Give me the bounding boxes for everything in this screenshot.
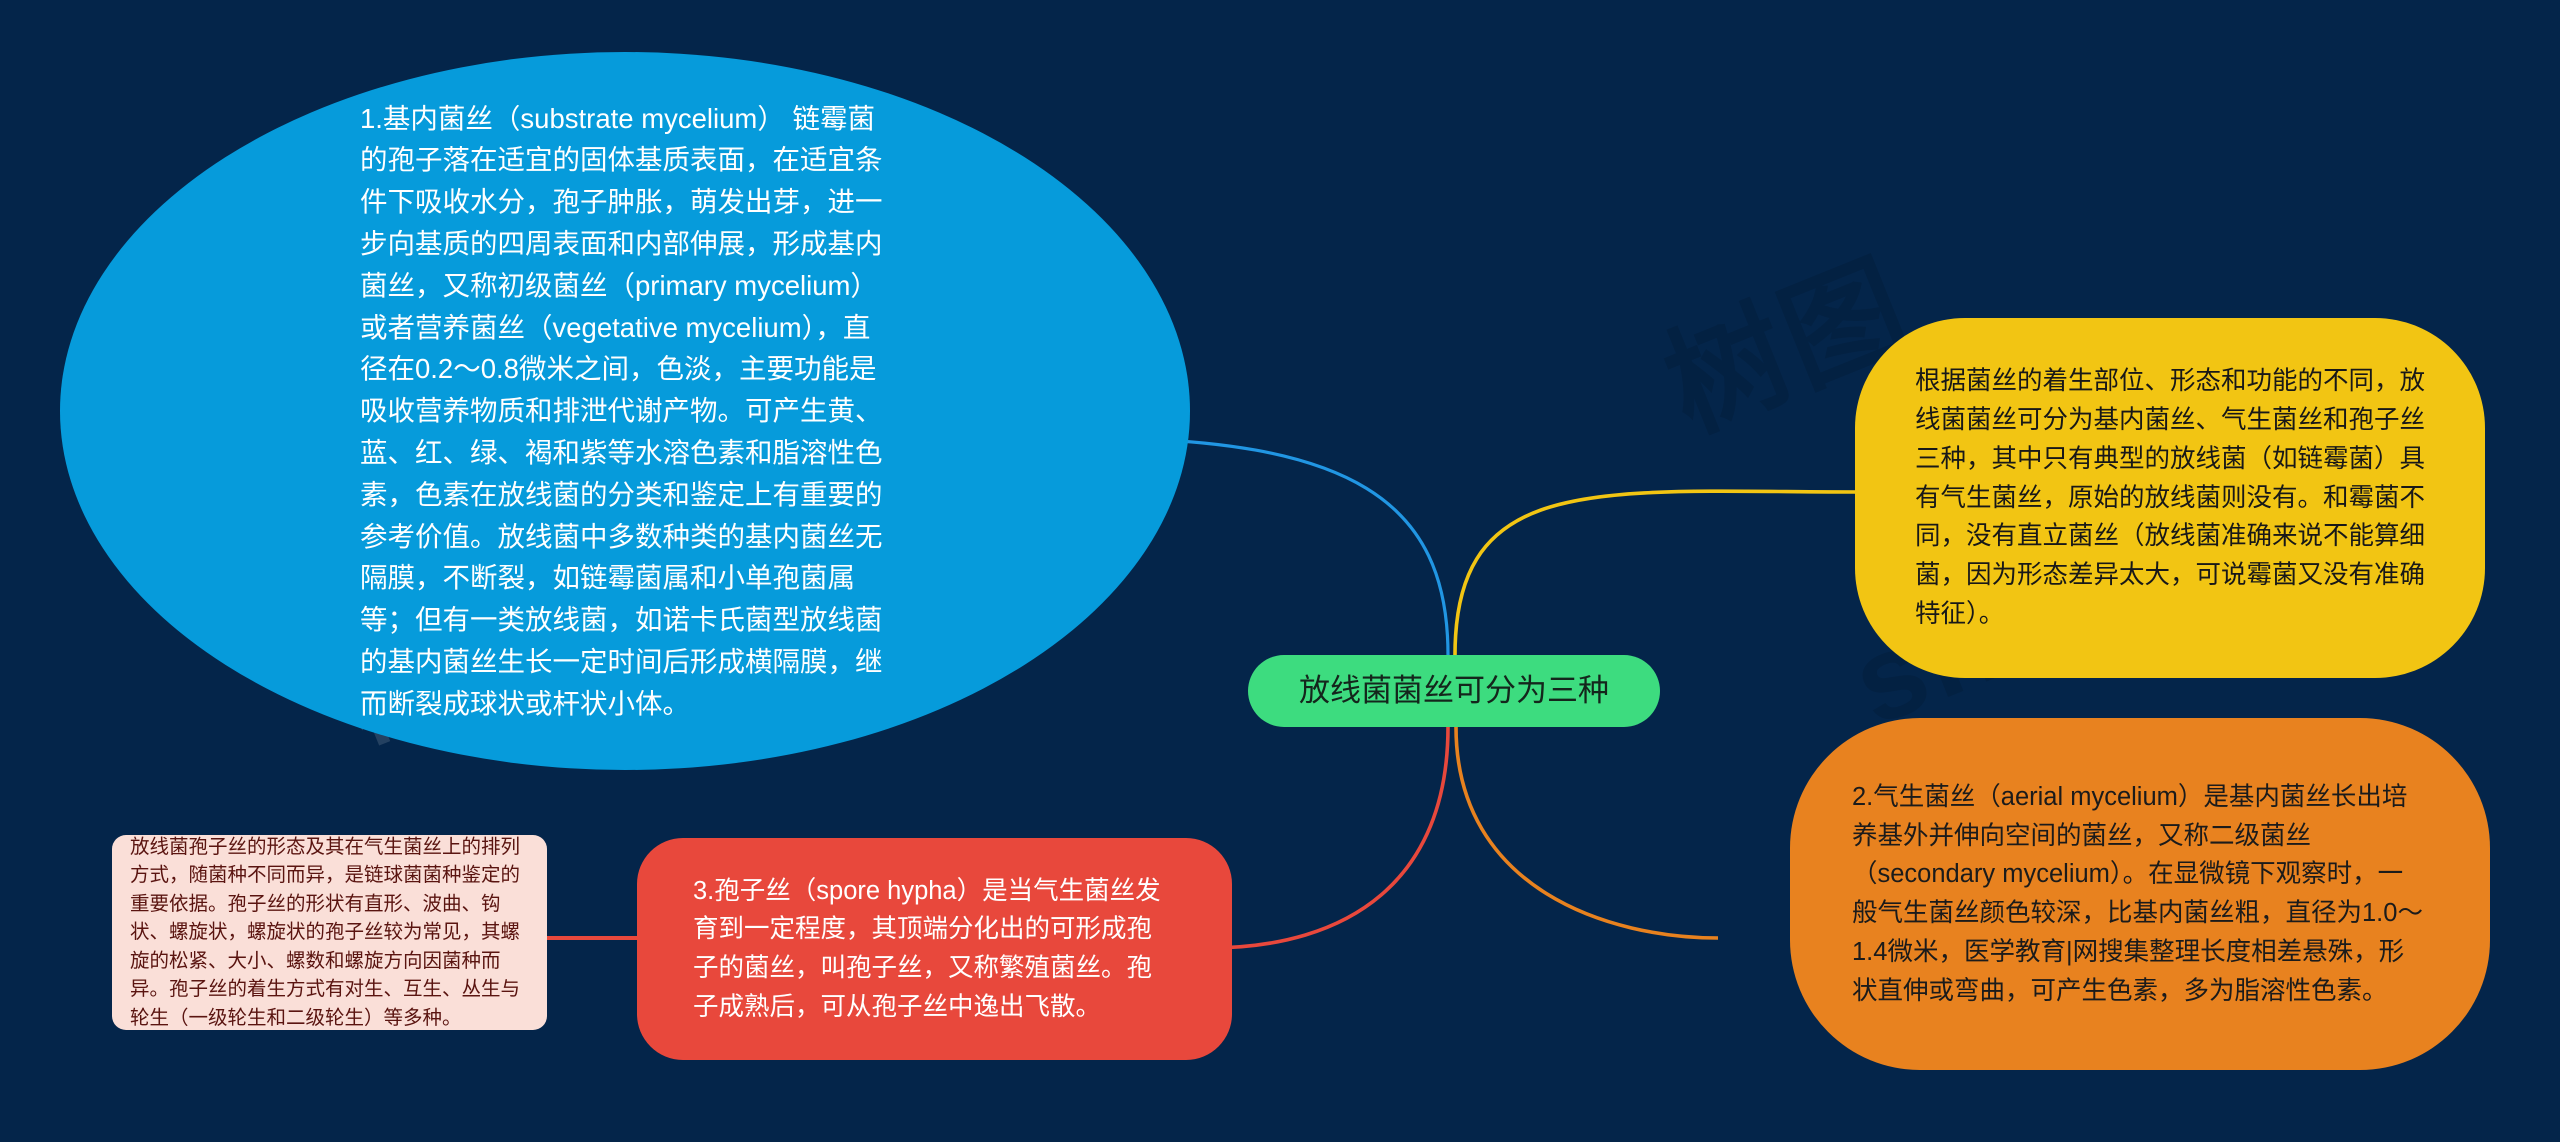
node-substrate-mycelium[interactable]: 1.基内菌丝（substrate mycelium） 链霉菌的孢子落在适宜的固体… bbox=[60, 52, 1190, 770]
connector-center-to-spore bbox=[1208, 727, 1448, 948]
node-overview[interactable]: 根据菌丝的着生部位、形态和功能的不同，放线菌菌丝可分为基内菌丝、气生菌丝和孢子丝… bbox=[1855, 318, 2485, 678]
node-spore-hypha-text: 3.孢子丝（spore hypha）是当气生菌丝发育到一定程度，其顶端分化出的可… bbox=[693, 872, 1176, 1027]
node-aerial-mycelium-text: 2.气生菌丝（aerial mycelium）是基内菌丝长出培养基外并伸向空间的… bbox=[1852, 778, 2428, 1011]
node-spore-hypha-detail-text: 放线菌孢子丝的形态及其在气生菌丝上的排列方式，随菌种不同而异，是链球菌菌种鉴定的… bbox=[130, 833, 529, 1032]
node-root-topic[interactable]: 放线菌菌丝可分为三种 bbox=[1248, 655, 1660, 727]
connector-center-to-overview bbox=[1455, 491, 1862, 655]
node-root-topic-label: 放线菌菌丝可分为三种 bbox=[1266, 672, 1642, 709]
node-spore-hypha[interactable]: 3.孢子丝（spore hypha）是当气生菌丝发育到一定程度，其顶端分化出的可… bbox=[637, 838, 1232, 1060]
node-aerial-mycelium[interactable]: 2.气生菌丝（aerial mycelium）是基内菌丝长出培养基外并伸向空间的… bbox=[1790, 718, 2490, 1070]
node-substrate-mycelium-text: 1.基内菌丝（substrate mycelium） 链霉菌的孢子落在适宜的固体… bbox=[360, 98, 890, 725]
node-overview-text: 根据菌丝的着生部位、形态和功能的不同，放线菌菌丝可分为基内菌丝、气生菌丝和孢子丝… bbox=[1915, 362, 2425, 633]
connector-center-to-aerial bbox=[1456, 727, 1718, 938]
node-spore-hypha-detail[interactable]: 放线菌孢子丝的形态及其在气生菌丝上的排列方式，随菌种不同而异，是链球菌菌种鉴定的… bbox=[112, 835, 547, 1030]
mindmap-canvas: 树图 shutu.cn shutu.cn 树图 树图 1.基内菌丝（substr… bbox=[0, 0, 2560, 1142]
